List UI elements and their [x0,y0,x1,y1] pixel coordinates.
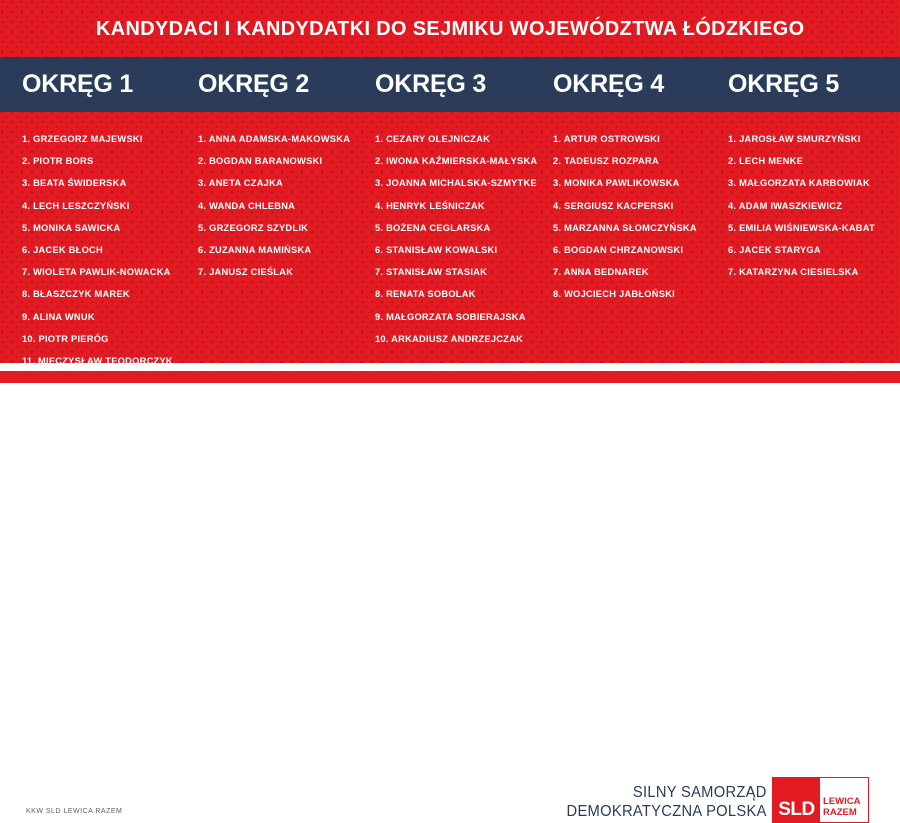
list-item: 7. ANNA BEDNAREK [553,261,697,283]
sld-logo-mark: SLD [778,800,815,819]
district-header-inner: OKRĘG 1OKRĘG 2OKRĘG 3OKRĘG 4OKRĘG 5 [0,57,900,112]
list-item: 8. BŁASZCZYK MAREK [22,283,173,305]
candidate-list-2: 1. ANNA ADAMSKA-MAKOWSKA2. BOGDAN BARANO… [198,128,350,283]
list-item: 4. HENRYK LEŚNICZAK [375,195,537,217]
list-item: 6. BOGDAN CHRZANOWSKI [553,239,697,261]
list-item: 7. KATARZYNA CIESIELSKA [728,261,875,283]
list-item: 7. JANUSZ CIEŚLAK [198,261,350,283]
list-item: 10. PIOTR PIERÓG [22,328,173,350]
list-item: 3. BEATA ŚWIDERSKA [22,172,173,194]
red-accent-stripe [0,371,900,383]
committee-label: KKW SLD LEWICA RAZEM [26,808,122,815]
list-item: 10. ARKADIUSZ ANDRZEJCZAK [375,328,537,350]
district-header-4: OKRĘG 4 [553,57,664,112]
candidate-list-1: 1. GRZEGORZ MAJEWSKI2. PIOTR BORS3. BEAT… [22,128,173,372]
list-item: 8. WOJCIECH JABŁOŃSKI [553,283,697,305]
list-item: 7. STANISŁAW STASIAK [375,261,537,283]
list-item: 9. MAŁGORZATA SOBIERAJSKA [375,306,537,328]
list-item: 4. SERGIUSZ KACPERSKI [553,195,697,217]
list-item: 6. JACEK BŁOCH [22,239,173,261]
poster: KANDYDACI I KANDYDATKI DO SEJMIKU WOJEWÓ… [0,0,900,449]
footer: KKW SLD LEWICA RAZEM SILNY SAMORZĄD DEMO… [0,383,900,449]
list-item: 2. PIOTR BORS [22,150,173,172]
stripe-gap [0,363,900,371]
district-header-2: OKRĘG 2 [198,57,309,112]
district-header-5: OKRĘG 5 [728,57,839,112]
sld-logo-sub-2: RAZEM [823,807,857,818]
list-item: 2. TADEUSZ ROZPARA [553,150,697,172]
list-item: 5. MARZANNA SŁOMCZYŃSKA [553,217,697,239]
candidate-list-4: 1. ARTUR OSTROWSKI2. TADEUSZ ROZPARA3. M… [553,128,697,306]
candidate-list-5: 1. JAROSŁAW SMURZYŃSKI2. LECH MENKE3. MA… [728,128,875,283]
list-item: 6. ZUZANNA MAMIŃSKA [198,239,350,261]
page-title: KANDYDACI I KANDYDATKI DO SEJMIKU WOJEWÓ… [96,17,804,41]
district-header-1: OKRĘG 1 [22,57,133,112]
sld-logo-sub-box: LEWICA RAZEM [820,778,868,822]
list-item: 4. WANDA CHLEBNA [198,195,350,217]
list-item: 5. GRZEGORZ SZYDLIK [198,217,350,239]
list-item: 5. EMILIA WIŚNIEWSKA-KABAT [728,217,875,239]
sld-logo: SLD LEWICA RAZEM [772,777,869,823]
list-item: 4. LECH LESZCZYŃSKI [22,195,173,217]
list-item: 6. STANISŁAW KOWALSKI [375,239,537,261]
list-item: 9. ALINA WNUK [22,306,173,328]
sld-logo-sub-1: LEWICA [823,796,860,807]
list-item: 3. ANETA CZAJKA [198,172,350,194]
slogan: SILNY SAMORZĄD DEMOKRATYCZNA POLSKA [556,783,767,821]
list-item: 2. LECH MENKE [728,150,875,172]
list-item: 2. BOGDAN BARANOWSKI [198,150,350,172]
list-item: 1. ANNA ADAMSKA-MAKOWSKA [198,128,350,150]
list-item: 7. WIOLETA PAWLIK-NOWACKA [22,261,173,283]
list-item: 1. GRZEGORZ MAJEWSKI [22,128,173,150]
list-item: 8. RENATA SOBOLAK [375,283,537,305]
list-item: 1. ARTUR OSTROWSKI [553,128,697,150]
list-item: 3. MAŁGORZATA KARBOWIAK [728,172,875,194]
candidate-columns: 1. GRZEGORZ MAJEWSKI2. PIOTR BORS3. BEAT… [0,112,900,363]
list-item: 6. JACEK STARYGA [728,239,875,261]
list-item: 3. JOANNA MICHALSKA-SZMYTKE [375,172,537,194]
slogan-line-1: SILNY SAMORZĄD [567,783,767,802]
list-item: 1. CEZARY OLEJNICZAK [375,128,537,150]
list-item: 3. MONIKA PAWLIKOWSKA [553,172,697,194]
district-header-band: OKRĘG 1OKRĘG 2OKRĘG 3OKRĘG 4OKRĘG 5 [0,57,900,112]
list-item: 5. MONIKA SAWICKA [22,217,173,239]
district-header-3: OKRĘG 3 [375,57,486,112]
sld-logo-mark-box: SLD [773,778,820,822]
list-item: 5. BOŻENA CEGLARSKA [375,217,537,239]
list-item: 4. ADAM IWASZKIEWICZ [728,195,875,217]
candidate-list-3: 1. CEZARY OLEJNICZAK2. IWONA KAŹMIERSKA-… [375,128,537,350]
list-item: 2. IWONA KAŹMIERSKA-MAŁYSKA [375,150,537,172]
list-item: 1. JAROSŁAW SMURZYŃSKI [728,128,875,150]
slogan-line-2: DEMOKRATYCZNA POLSKA [567,802,767,821]
title-bar: KANDYDACI I KANDYDATKI DO SEJMIKU WOJEWÓ… [0,0,900,57]
